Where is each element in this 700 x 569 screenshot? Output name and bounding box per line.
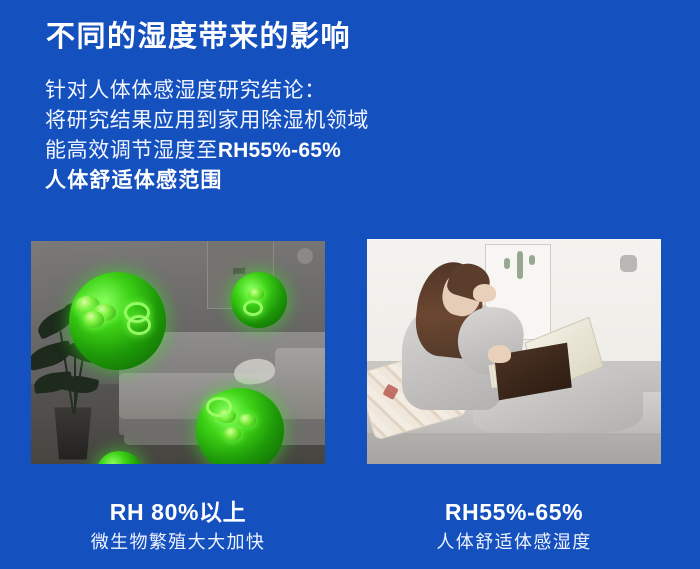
caption-left: RH 80%以上 微生物繁殖大大加快 xyxy=(31,498,325,555)
caption-right: RH55%-65% 人体舒适体感湿度 xyxy=(367,498,661,555)
caption-right-sub: 人体舒适体感湿度 xyxy=(367,529,661,555)
caption-right-main: RH55%-65% xyxy=(367,498,661,526)
wall-speaker xyxy=(297,248,313,264)
intro-block: 针对人体体感湿度研究结论： 将研究结果应用到家用除湿机领域 能高效调节湿度至RH… xyxy=(45,76,475,196)
infographic-page: 不同的湿度带来的影响 针对人体体感湿度研究结论： 将研究结果应用到家用除湿机领域… xyxy=(0,0,700,569)
microbe-ring xyxy=(206,397,231,417)
scene-bright-room xyxy=(367,239,661,464)
cactus-artwork xyxy=(517,251,523,279)
page-title: 不同的湿度带来的影响 xyxy=(46,17,351,57)
microbe-bump xyxy=(248,288,265,300)
caption-left-sub: 微生物繁殖大大加快 xyxy=(31,529,325,555)
intro-line-4: 人体舒适体感范围 xyxy=(45,166,475,196)
microbe-large xyxy=(69,272,166,370)
microbe-lower xyxy=(196,388,284,464)
microbe-ring xyxy=(243,300,262,316)
microbe-medium xyxy=(231,272,287,328)
microbe-bump xyxy=(83,311,104,328)
plant-pot xyxy=(52,407,94,459)
woman-hand-head xyxy=(473,284,497,302)
scene-dim-room xyxy=(31,241,325,464)
intro-line-3-text: 能高效调节湿度至 xyxy=(45,139,218,162)
microbe-bump xyxy=(224,427,242,441)
intro-line-1: 针对人体体感湿度研究结论： xyxy=(45,76,475,106)
sofa-armrest xyxy=(275,348,325,419)
intro-line-2: 将研究结果应用到家用除湿机领域 xyxy=(45,106,475,136)
intro-humidity-range: RH55%-65% xyxy=(218,139,341,162)
photo-comfort-humidity xyxy=(367,239,661,464)
woman-hand-book xyxy=(488,345,512,363)
microbe-ring xyxy=(127,315,150,335)
photo-high-humidity xyxy=(31,241,325,464)
microbe-bump xyxy=(238,414,256,428)
wall-speaker xyxy=(620,255,637,272)
plant-leaf xyxy=(31,340,74,371)
caption-left-main: RH 80%以上 xyxy=(31,498,325,526)
intro-line-3: 能高效调节湿度至RH55%-65% xyxy=(45,136,475,166)
